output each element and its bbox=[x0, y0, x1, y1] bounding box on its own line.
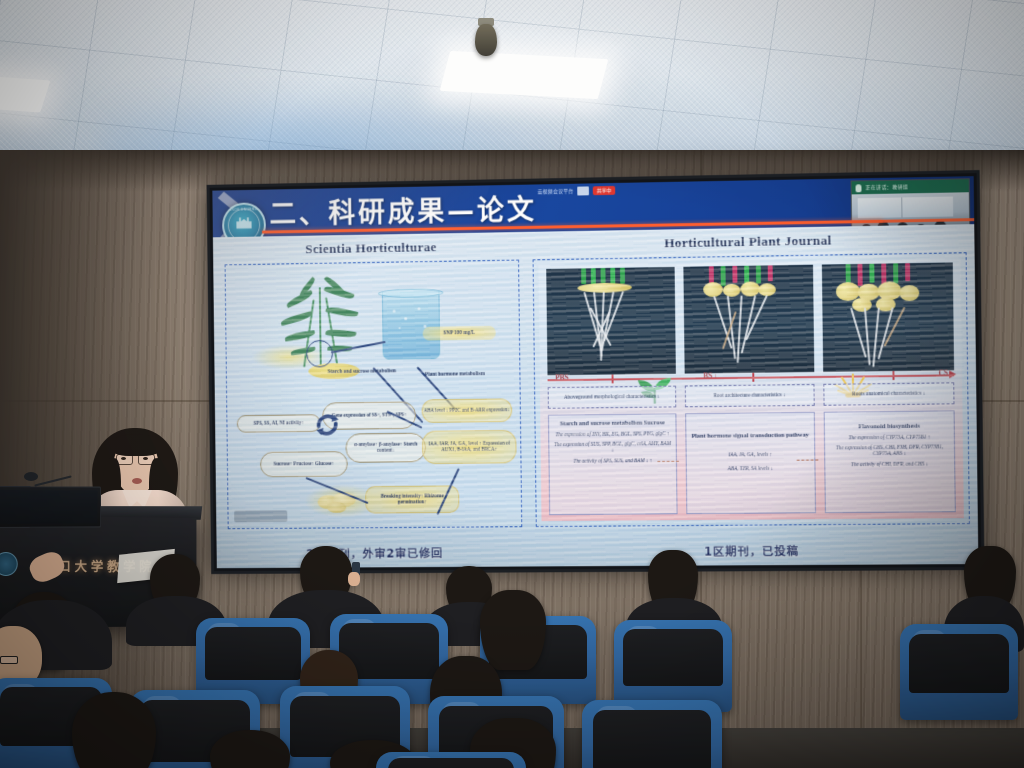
axis-tick bbox=[612, 375, 614, 384]
box-root-architecture: Root architecture characteristics ↓ bbox=[685, 384, 815, 407]
meeting-chips: 云视频会议平台 共享中 bbox=[538, 186, 616, 196]
pathway-row: Starch and sucrose metabolism Sucrose Th… bbox=[548, 410, 956, 515]
root-photo-row bbox=[546, 262, 954, 375]
logo-building-icon bbox=[236, 216, 251, 229]
germinating-rhizome bbox=[316, 490, 366, 512]
left-figure: SNP 100 mg/L Starch and sucrose metaboli… bbox=[229, 265, 517, 525]
pathway-box-hormone: Plant hormone signal transduction pathwa… bbox=[685, 412, 816, 514]
logo-top-text: HANKOU UNIVERSITY bbox=[224, 207, 264, 212]
node-aba: ABA level ↓ PP2C and B-ARR expression↓ bbox=[422, 398, 513, 423]
auditorium-seat[interactable] bbox=[376, 752, 526, 768]
slide: HANKOU UNIVERSITY 汉口学院 二、科研成果—论文 云视频会议平台… bbox=[212, 176, 978, 568]
banner-chevron-icon bbox=[212, 192, 253, 238]
right-figure-border: PBS BS ↓ CS bbox=[533, 252, 970, 527]
axis-label-bs: BS ↓ bbox=[703, 371, 718, 380]
sharing-badge: 共享中 bbox=[593, 186, 615, 195]
axis-arrow-icon bbox=[949, 370, 956, 378]
presenter-mouth bbox=[132, 478, 142, 484]
auditorium-seat[interactable] bbox=[582, 700, 722, 768]
pathway-line: ABA, TZR, SA levels ↓ bbox=[691, 466, 811, 473]
branch-label-starch: Starch and sucrose metabolism bbox=[322, 368, 402, 375]
microphone-icon bbox=[855, 184, 861, 192]
box-aboveground-morphology: Aboveground morphological characteristic… bbox=[548, 386, 677, 409]
box-root-anatomy: Roots anatomical characteristics ↓ bbox=[823, 382, 954, 405]
audience-head bbox=[480, 590, 546, 670]
pathway-title: Starch and sucrose metabolism Sucrose bbox=[553, 419, 672, 428]
node-enzyme-activity: SPS, SS, AI, NI activity↑ bbox=[237, 414, 321, 432]
figure-watermark bbox=[234, 510, 287, 522]
cycle-arrows-icon bbox=[313, 410, 342, 440]
left-panel: Scientia Horticulturae bbox=[220, 232, 526, 568]
rhizome-circle-marker bbox=[306, 340, 333, 368]
right-journal-title: Horticultural Plant Journal bbox=[528, 230, 970, 253]
audience-raised-hand bbox=[26, 548, 68, 586]
screen-share-icon bbox=[577, 186, 589, 195]
microphone-head-icon bbox=[24, 472, 38, 481]
treatment-label: SNP 100 mg/L bbox=[423, 326, 496, 341]
left-figure-border: SNP 100 mg/L Starch and sucrose metaboli… bbox=[225, 260, 523, 530]
lecture-hall-scene: HANKOU UNIVERSITY 汉口学院 二、科研成果—论文 云视频会议平台… bbox=[0, 0, 1024, 768]
auditorium-seat[interactable] bbox=[900, 624, 1018, 720]
ceiling-projector bbox=[475, 24, 497, 56]
pathway-line: The expression of CYP73A, CYP75B1 ↑ bbox=[829, 434, 950, 442]
pathway-line: The expression of CHS, CHI, F3H, DFR, CY… bbox=[829, 444, 950, 458]
video-speaker-label: 正在讲话：教研组 bbox=[865, 183, 908, 191]
branch-label-hormone: Plant hormone metabolism bbox=[417, 371, 492, 378]
root-photo-bs bbox=[683, 265, 814, 374]
pathway-box-flavonoid: Flavonoid biosynthesis The expression of… bbox=[824, 410, 956, 513]
audience-hand bbox=[348, 572, 360, 586]
slide-body: Scientia Horticulturae bbox=[213, 224, 978, 568]
right-panel: Horticultural Plant Journal bbox=[528, 224, 974, 566]
audience-glasses bbox=[0, 656, 18, 664]
logo-ring bbox=[228, 208, 261, 237]
root-photo-cs bbox=[822, 262, 954, 371]
presentation-screen[interactable]: HANKOU UNIVERSITY 汉口学院 二、科研成果—论文 云视频会议平台… bbox=[207, 170, 985, 574]
presenter-fringe bbox=[110, 434, 162, 456]
axis-tick bbox=[892, 371, 894, 380]
auditorium-seat[interactable] bbox=[614, 620, 732, 712]
video-window-background bbox=[858, 197, 954, 219]
axis-label-pbs: PBS bbox=[555, 373, 568, 382]
pathway-box-starch: Starch and sucrose metabolism Sucrose Th… bbox=[548, 413, 678, 515]
laptop-screen bbox=[0, 490, 98, 524]
audience-area bbox=[0, 540, 1024, 768]
axis-tick bbox=[752, 373, 754, 382]
presenter-eye bbox=[143, 457, 148, 460]
pathway-title: Flavonoid biosynthesis bbox=[829, 422, 950, 431]
podium-laptop[interactable] bbox=[0, 486, 101, 528]
pathway-line: The activity of SPS, SUS, and BAM ↓ ↑ bbox=[553, 458, 672, 465]
meeting-platform-label: 云视频会议平台 bbox=[538, 188, 574, 196]
box-connector bbox=[657, 461, 678, 462]
ceiling-light-panel-center bbox=[440, 51, 609, 99]
pathway-title: Plant hormone signal transduction pathwa… bbox=[690, 432, 810, 441]
left-journal-title: Scientia Horticulturae bbox=[221, 238, 523, 259]
box-connector bbox=[797, 460, 819, 461]
axis-label-cs: CS bbox=[939, 368, 949, 377]
node-amylase: α-amylase↑ β-amylase↑ Starch content↓ bbox=[345, 433, 426, 463]
right-figure: PBS BS ↓ CS bbox=[538, 258, 963, 521]
pathway-line: The expression of SUS, SPP, BGL, glgC, c… bbox=[553, 441, 672, 455]
university-logo: HANKOU UNIVERSITY 汉口学院 bbox=[222, 202, 266, 237]
node-sugars: Sucrose↑ Fructose↑ Glucose↑ bbox=[260, 451, 348, 477]
audience-head bbox=[72, 692, 156, 768]
presenter-eye bbox=[121, 457, 126, 460]
pathway-line: The activity of CHI, DFR, and CHS ↓ bbox=[829, 461, 950, 468]
pathway-line: IAA, JA, GA₃ levels ↑ bbox=[691, 451, 811, 458]
microphone-arm bbox=[34, 475, 71, 486]
pathway-line: The expression of INV, HK, EG, BGL, SPS,… bbox=[553, 431, 672, 438]
node-hormones: IAA, IAR, JA, GA₃ level ↑ Expression of … bbox=[422, 430, 517, 464]
root-photo-pbs bbox=[546, 267, 676, 375]
characteristics-row: Aboveground morphological characteristic… bbox=[548, 382, 955, 408]
beaker bbox=[382, 291, 440, 359]
